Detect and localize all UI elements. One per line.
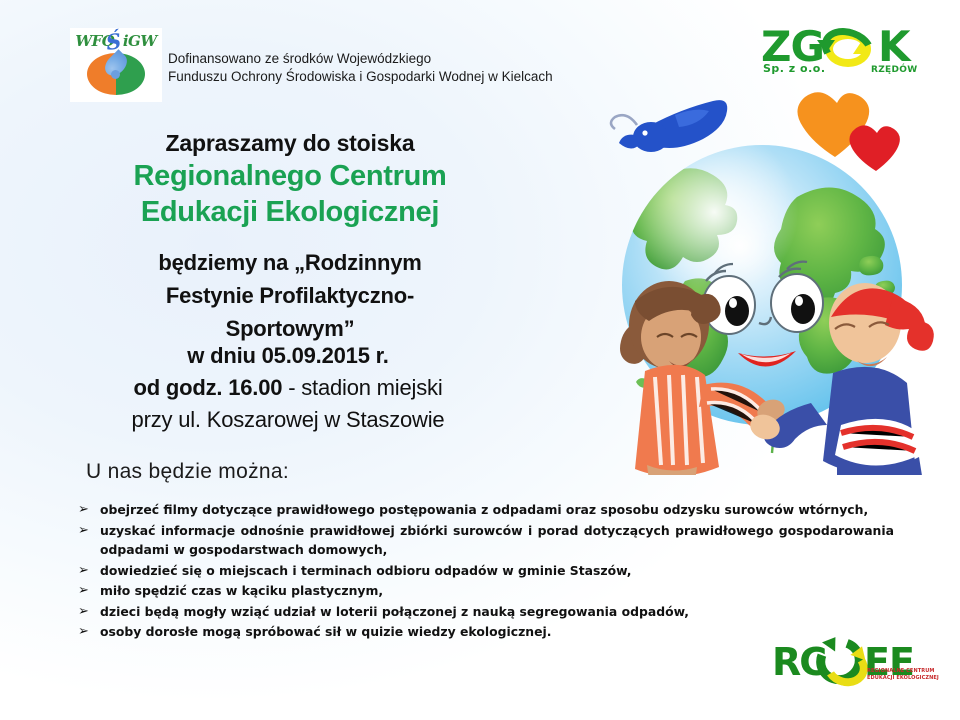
list-item: ➢ dzieci będą mogły wziąć udział w loter… — [74, 602, 894, 622]
list-item: ➢ uzyskać informacje odnośnie prawidłowe… — [74, 521, 894, 560]
event-time: od godz. 16.00 — [133, 375, 282, 400]
event-time-and-venue: od godz. 16.00 - stadion miejski — [78, 372, 498, 404]
list-item-text: obejrzeć filmy dotyczące prawidłowego po… — [100, 502, 868, 517]
rcee-logo: RC EE REGIONALNE CENTRUM EDUKACJI EKOLOG… — [772, 640, 932, 696]
arrow-bullet-icon: ➢ — [78, 521, 89, 541]
recycling-arrow-yellow-icon — [853, 42, 869, 54]
funding-line-2: Funduszu Ochrony Środowiska i Gospodarki… — [168, 68, 608, 86]
arrow-bullet-icon: ➢ — [78, 602, 89, 622]
event-name: będziemy na „Rodzinnym Festynie Profilak… — [80, 246, 500, 345]
invite-line: Zapraszamy do stoiska — [80, 128, 500, 158]
funding-statement: Dofinansowano ze środków Wojewódzkiego F… — [168, 50, 608, 86]
zgok-legal-form: Sp. z o.o. — [763, 62, 826, 75]
event-date: w dniu 05.09.2015 r. — [78, 340, 498, 372]
event-date-and-place: w dniu 05.09.2015 r. od godz. 16.00 - st… — [78, 340, 498, 436]
water-drop-core-icon — [111, 70, 120, 79]
zgok-logo: ZG K Sp. z o.o. RZĘDÓW — [757, 24, 922, 82]
wfosigw-logo: WFOxiGW Ś — [70, 28, 162, 102]
red-heart-icon — [849, 125, 899, 171]
wfosigw-word-right: iGW — [123, 32, 157, 50]
organisation-name-line-2: Edukacji Ekologicznej — [80, 194, 500, 230]
event-name-line-2: Festynie Profilaktyczno- — [80, 279, 500, 312]
arrow-bullet-icon: ➢ — [78, 622, 89, 642]
organisation-name-line-1: Regionalnego Centrum — [80, 158, 500, 194]
arrow-bullet-icon: ➢ — [78, 500, 89, 520]
funding-line-1: Dofinansowano ze środków Wojewódzkiego — [168, 50, 608, 68]
list-item-text: dowiedzieć się o miejscach i terminach o… — [100, 563, 631, 578]
list-item: ➢ obejrzeć filmy dotyczące prawidłowego … — [74, 500, 894, 520]
list-item-text: dzieci będą mogły wziąć udział w loterii… — [100, 604, 689, 619]
event-name-line-1: będziemy na „Rodzinnym — [80, 246, 500, 279]
offer-list: ➢ obejrzeć filmy dotyczące prawidłowego … — [74, 500, 894, 643]
zgok-town: RZĘDÓW — [871, 65, 917, 75]
list-item-text: uzyskać informacje odnośnie prawidłowej … — [100, 523, 894, 558]
list-item: ➢ miło spędzić czas w kąciku plastycznym… — [74, 581, 894, 601]
rcee-subtitle: REGIONALNE CENTRUM EDUKACJI EKOLOGICZNEJ — [867, 668, 939, 681]
rcee-subtitle-line-2: EDUKACJI EKOLOGICZNEJ — [867, 675, 939, 681]
offer-title: U nas będzie można: — [86, 460, 289, 484]
event-address: przy ul. Koszarowej w Staszowie — [78, 404, 498, 436]
poster-canvas: WFOxiGW Ś Dofinansowano ze środków Wojew… — [0, 0, 960, 720]
list-item-text: miło spędzić czas w kąciku plastycznym, — [100, 583, 383, 598]
arrow-bullet-icon: ➢ — [78, 581, 89, 601]
earth-hugged-by-children-illustration — [565, 85, 960, 475]
arrow-bullet-icon: ➢ — [78, 561, 89, 581]
blue-bird-icon — [611, 100, 727, 152]
zgok-letter-k: K — [878, 22, 911, 71]
event-venue: - stadion miejski — [282, 375, 442, 400]
list-item-text: osoby dorosłe mogą spróbować sił w quizi… — [100, 624, 551, 639]
recycling-arrow-green-icon — [817, 40, 835, 53]
list-item: ➢ osoby dorosłe mogą spróbować sił w qui… — [74, 622, 894, 642]
rcee-subtitle-line-1: REGIONALNE CENTRUM — [867, 668, 934, 674]
invitation-heading: Zapraszamy do stoiska Regionalnego Centr… — [80, 128, 500, 230]
list-item: ➢ dowiedzieć się o miejscach i terminach… — [74, 561, 894, 581]
